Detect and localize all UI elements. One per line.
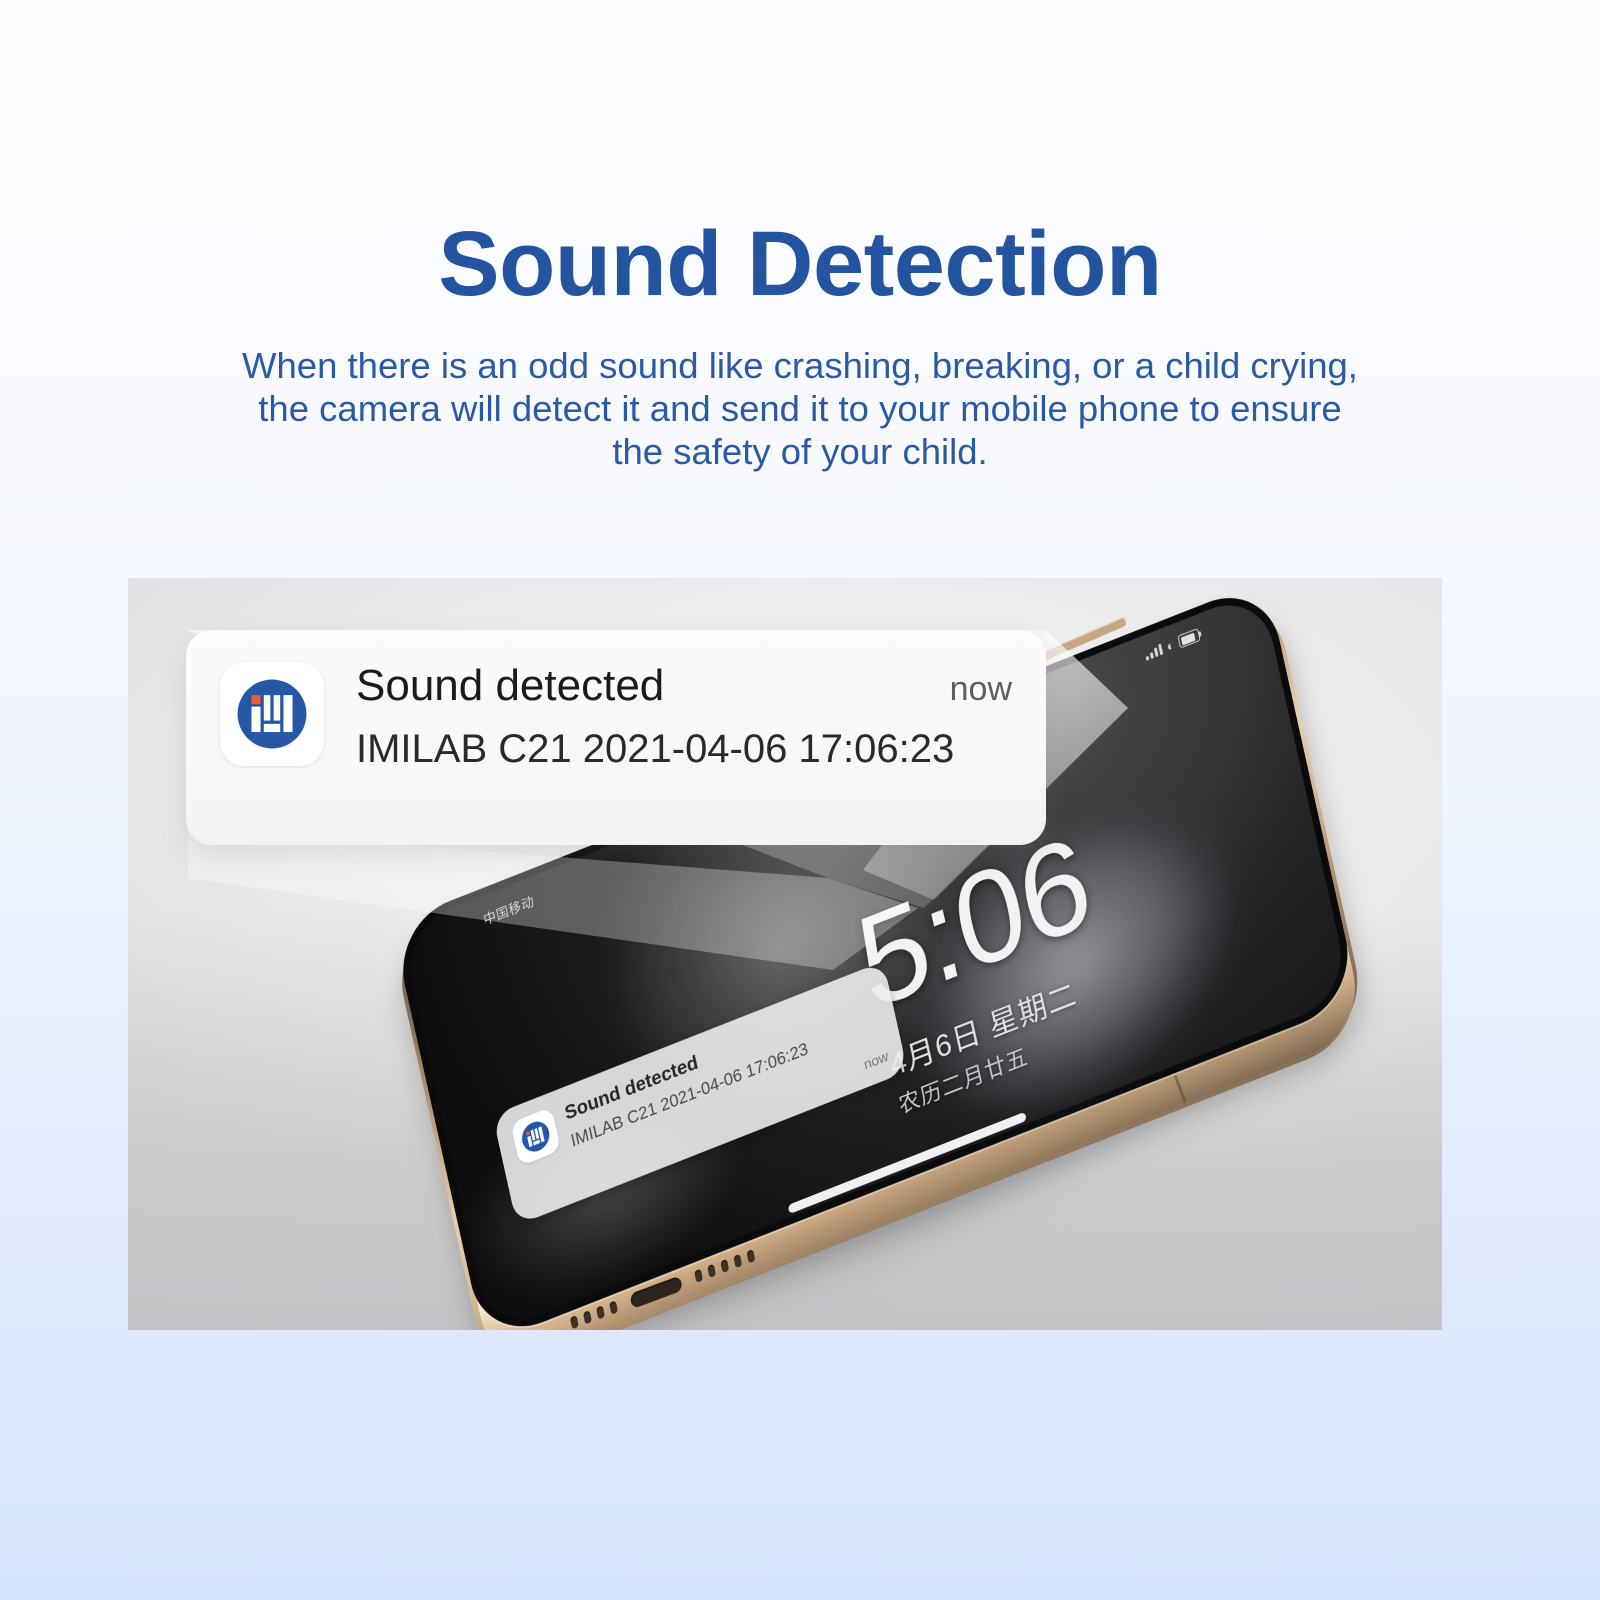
speaker-grille-icon <box>570 1315 579 1329</box>
wifi-icon: ◐ <box>1165 638 1175 654</box>
speaker-grille-icon <box>694 1269 703 1283</box>
page-subtitle: When there is an odd sound like crashing… <box>210 312 1390 473</box>
page-header: Sound Detection When there is an odd sou… <box>0 0 1600 473</box>
notification-subtitle: IMILAB C21 2021-04-06 17:06:23 <box>356 726 1012 772</box>
speaker-grille-icon <box>707 1264 716 1278</box>
notification-header-row: Sound detected now <box>356 662 1012 710</box>
notification-timestamp: now <box>926 670 1012 709</box>
signal-bars-icon <box>1144 643 1163 660</box>
speaker-grille-icon <box>583 1310 592 1324</box>
speaker-grille-icon <box>733 1254 742 1268</box>
notification-card[interactable]: Sound detected now IMILAB C21 2021-04-06… <box>186 630 1046 845</box>
status-bar-indicators: ◐ <box>1144 628 1201 662</box>
page-title: Sound Detection <box>0 0 1600 312</box>
speaker-grille-icon <box>720 1259 729 1273</box>
status-bar-carrier: 中国移动 <box>481 890 535 928</box>
notification-title: Sound detected <box>356 662 664 710</box>
notification-content: Sound detected now IMILAB C21 2021-04-06… <box>356 660 1012 772</box>
subtitle-line-2: the camera will detect it and send it to… <box>210 387 1390 430</box>
onscreen-notification-timestamp: now <box>862 1048 889 1073</box>
product-photo-panel: 中国移动 ◐ 5:06 4月6日 星期二 农历二月廿五 <box>128 578 1442 1330</box>
battery-icon <box>1177 628 1200 649</box>
speaker-grille-icon <box>596 1305 605 1319</box>
subtitle-line-1: When there is an odd sound like crashing… <box>210 344 1390 387</box>
imilab-app-icon <box>510 1107 561 1166</box>
speaker-grille-icon <box>609 1300 618 1314</box>
speaker-grille-icon <box>746 1249 755 1263</box>
subtitle-line-3: the safety of your child. <box>210 430 1390 473</box>
imilab-app-icon <box>220 662 324 766</box>
